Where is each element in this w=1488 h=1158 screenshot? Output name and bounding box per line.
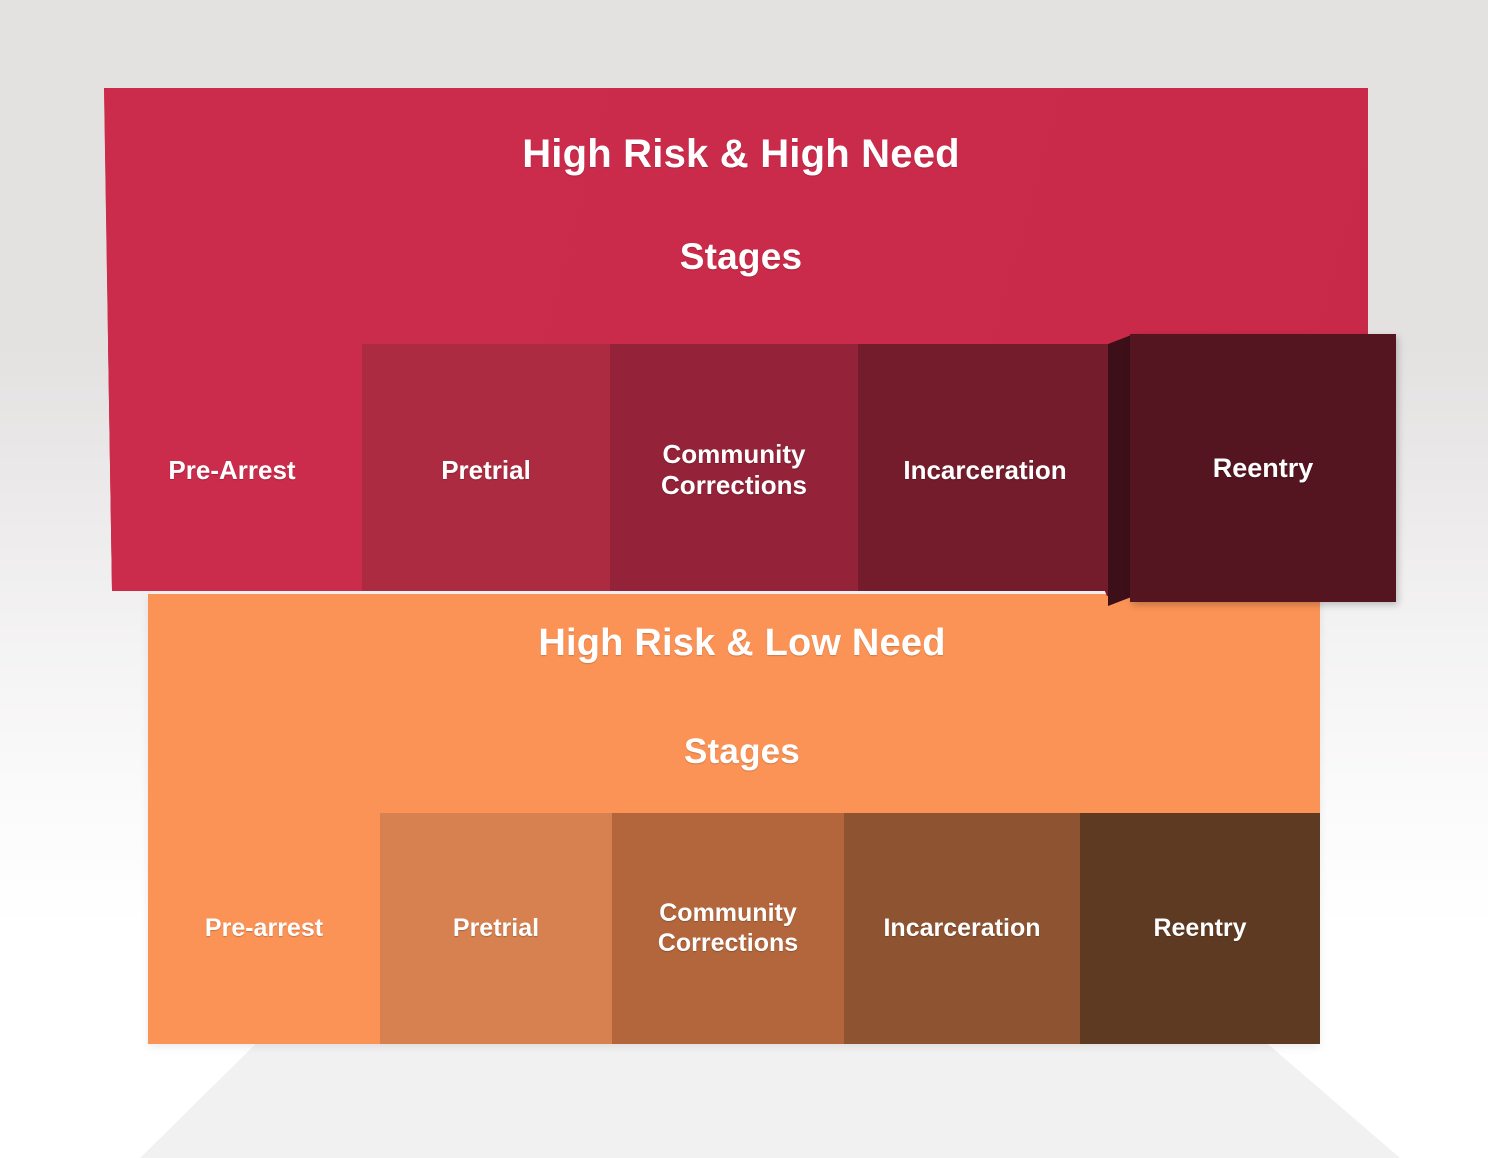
stage-label-pretrial-low-need: Pretrial [453,914,539,944]
stage-box-community-corrections-high-need[interactable]: Community Corrections [610,344,858,596]
stage-box-pre-arrest-low-need[interactable]: Pre-arrest [148,813,380,1044]
stage-box-pretrial-high-need[interactable]: Pretrial [362,344,610,596]
stage-box-pretrial-low-need[interactable]: Pretrial [380,813,612,1044]
stage-label-incarceration-high-need: Incarceration [903,455,1066,486]
panel-high-risk-low-need-subtitle: Stages [156,732,1328,772]
stage-label-pre-arrest-low-need: Pre-arrest [205,914,323,944]
stage-box-pre-arrest-high-need[interactable]: Pre-Arrest [102,344,362,596]
stage-label-incarceration-low-need: Incarceration [883,914,1040,944]
stage-label-reentry-high-need: Reentry [1213,453,1314,484]
stage-box-reentry-low-need[interactable]: Reentry [1080,813,1320,1044]
stage-box-incarceration-low-need[interactable]: Incarceration [844,813,1080,1044]
stage-label-community-corrections-low-need: Community Corrections [658,899,798,958]
stage-box-community-corrections-low-need[interactable]: Community Corrections [612,813,844,1044]
reentry-3d-front-face[interactable]: Reentry [1130,334,1396,602]
diagram-canvas: High Risk & High Need Stages Pre-Arrest … [0,0,1488,1158]
panel-high-risk-low-need-title: High Risk & Low Need [156,622,1328,665]
stage-label-community-corrections-high-need: Community Corrections [661,439,807,500]
panel-high-risk-low-need[interactable]: High Risk & Low Need Stages Pre-arrest P… [148,594,1320,1044]
stage-label-pre-arrest-high-need: Pre-Arrest [168,455,295,486]
stage-box-reentry-high-need-raised[interactable]: Reentry [1108,334,1396,606]
stage-box-incarceration-high-need[interactable]: Incarceration [858,344,1112,596]
stage-label-pretrial-high-need: Pretrial [441,455,531,486]
stage-row-high-risk-low-need: Pre-arrest Pretrial Community Correction… [148,813,1320,1044]
stage-label-reentry-low-need: Reentry [1153,914,1246,944]
